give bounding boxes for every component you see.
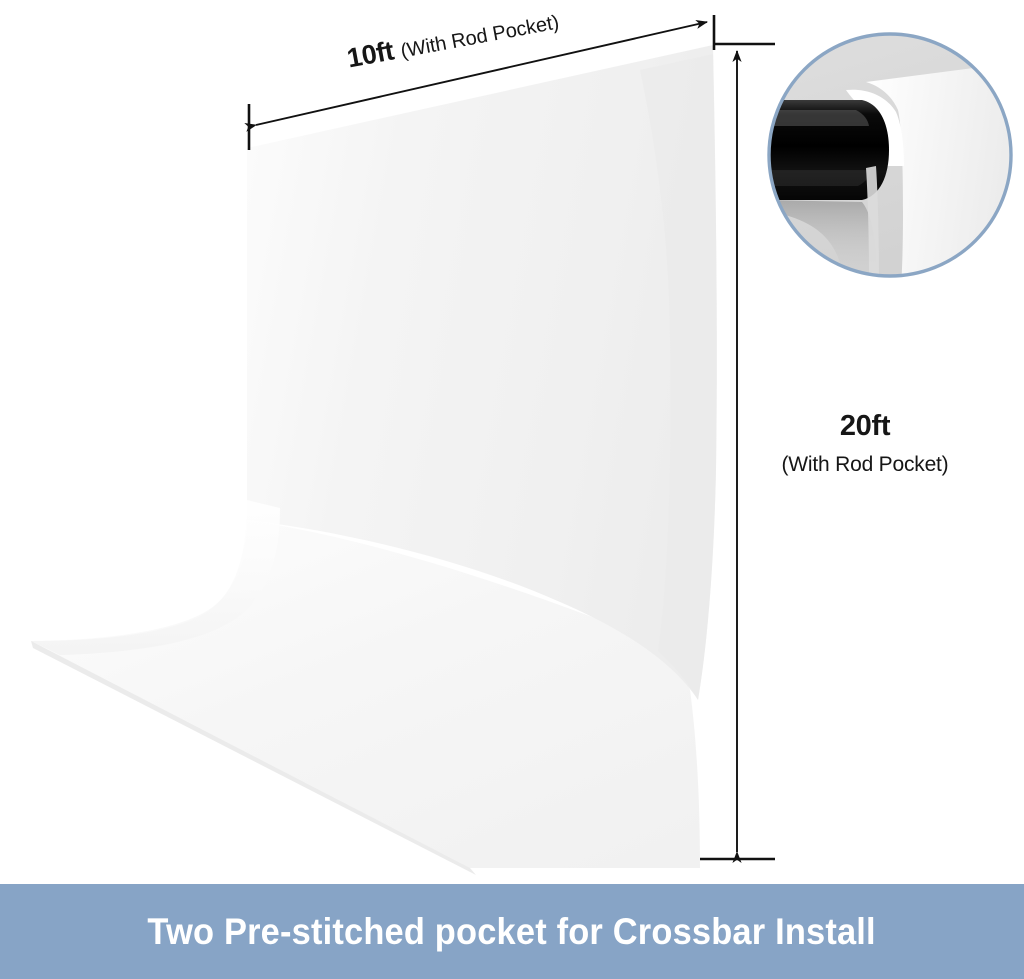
feature-banner: Two Pre-stitched pocket for Crossbar Ins… [0,884,1024,979]
height-note: (With Rod Pocket) [762,454,968,475]
height-value: 20ft [762,412,968,441]
height-dimension-label: 20ft (With Rod Pocket) [762,412,968,475]
inset-rod-highlight-low [762,170,871,186]
backdrop-illustration [0,0,1024,979]
backdrop-fabric [31,45,717,875]
feature-banner-text: Two Pre-stitched pocket for Crossbar Ins… [148,911,876,953]
rod-pocket-detail-inset [760,34,1020,300]
infographic-canvas: 10ft(With Rod Pocket) 20ft (With Rod Poc… [0,0,1024,979]
